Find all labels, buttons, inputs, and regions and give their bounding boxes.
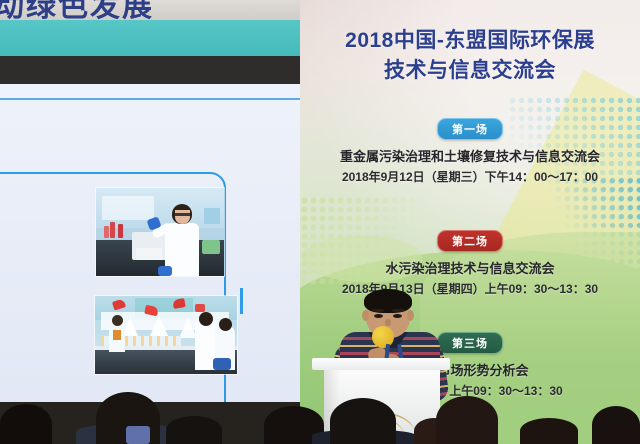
slide-accent-tick (240, 288, 243, 314)
microphone-head (372, 326, 394, 348)
speaker-eyebrow (392, 309, 404, 312)
audience-head (436, 396, 498, 444)
session-title-1: 重金属污染治理和土壤修复技术与信息交流会 (300, 146, 640, 165)
slide-header-rule (0, 98, 300, 100)
speaker-eyebrow (372, 309, 384, 312)
photo-researcher (164, 204, 200, 276)
banner-title-line1: 2018中国-东盟国际环保展 (345, 29, 595, 52)
audience-lanyard (126, 426, 150, 444)
lab-photo-lower (95, 296, 237, 374)
audience-head (166, 416, 222, 444)
teal-wall-band (0, 20, 300, 58)
banner-title-line2: 技术与信息交流会 (300, 56, 640, 86)
session-time-1: 2018年9月12日（星期三）下午14：00～17：00 (300, 168, 640, 185)
photo-blue-bin (213, 358, 231, 370)
photo-equipment (204, 208, 220, 224)
photo-instrument-base (136, 248, 162, 260)
photo-shelf (102, 196, 154, 220)
audience-head (0, 404, 52, 444)
session-title-2: 水污染治理技术与信息交流会 (300, 258, 640, 277)
session-badge-2: 第二场 (437, 230, 503, 252)
photo-reagent-bottle (118, 224, 123, 238)
projection-wall: 动绿色发展 (0, 0, 312, 444)
speaker-eye (393, 314, 402, 318)
speaker-ear (407, 310, 414, 321)
screen-top-frame (0, 56, 300, 86)
lab-photo-upper (96, 188, 224, 276)
photo-blue-glove (158, 266, 172, 276)
photo-head (219, 318, 232, 331)
audience-head (592, 406, 640, 444)
photo-flask (149, 316, 169, 338)
photo-head (112, 315, 123, 326)
audience-head (330, 398, 396, 444)
photo-equipment (113, 330, 121, 340)
speaker-ear (362, 310, 369, 321)
audience-head (520, 418, 578, 444)
banner-title: 2018中国-东盟国际环保展 技术与信息交流会 (300, 26, 640, 86)
photo-green-box (202, 240, 220, 254)
photo-reagent-bottle (104, 226, 109, 238)
photo-glasses (175, 213, 190, 216)
podium-top-ledge (312, 358, 450, 370)
photo-red-valve (195, 304, 205, 312)
session-badge-1: 第一场 (437, 118, 503, 140)
speaker-eye (374, 314, 383, 318)
speaker-nose (385, 319, 391, 326)
photo-head (199, 312, 213, 326)
conference-screenshot: 动绿色发展 (0, 0, 640, 444)
photo-reagent-bottle (110, 222, 115, 238)
